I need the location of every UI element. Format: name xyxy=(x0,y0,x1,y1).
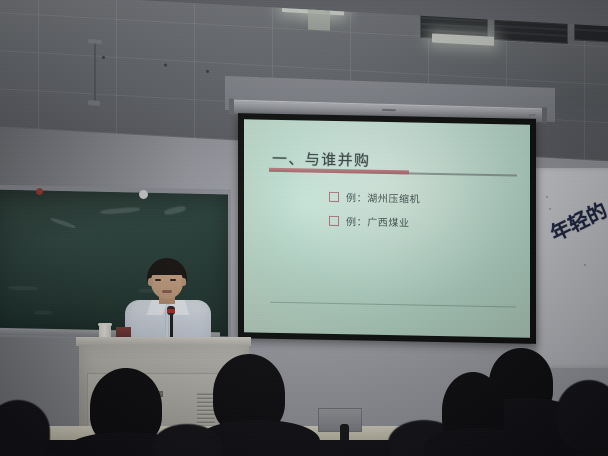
presenter-ear-right xyxy=(181,278,186,286)
microphone-indicator xyxy=(167,309,175,313)
presenter xyxy=(123,258,213,344)
roller-label: ▱▱ xyxy=(529,112,536,117)
audience-head xyxy=(0,400,50,456)
board-clip-white xyxy=(139,190,148,199)
roller-knob xyxy=(382,109,396,111)
whiteboard-handwriting: 年轻的 xyxy=(545,194,608,246)
lecture-hall-photo: ▱▱ 年轻的 一、与谁并购 例：湖 xyxy=(0,0,608,456)
board-clip-red xyxy=(36,188,43,195)
screen-vignette xyxy=(244,119,530,337)
whiteboard: 年轻的 xyxy=(536,168,608,368)
presenter-mouth xyxy=(162,290,172,293)
presenter-eye-left xyxy=(155,279,161,281)
audience-head xyxy=(556,380,608,450)
presenter-hair-front xyxy=(149,264,185,275)
projection-screen-frame: 一、与谁并购 例：湖州压缩机 例：广西煤业 xyxy=(238,113,536,344)
presenter-ear-left xyxy=(148,278,153,286)
presenter-eye-right xyxy=(170,279,176,281)
projection-screen: 一、与谁并购 例：湖州压缩机 例：广西煤业 xyxy=(244,119,530,337)
audience-foreground xyxy=(0,346,608,456)
